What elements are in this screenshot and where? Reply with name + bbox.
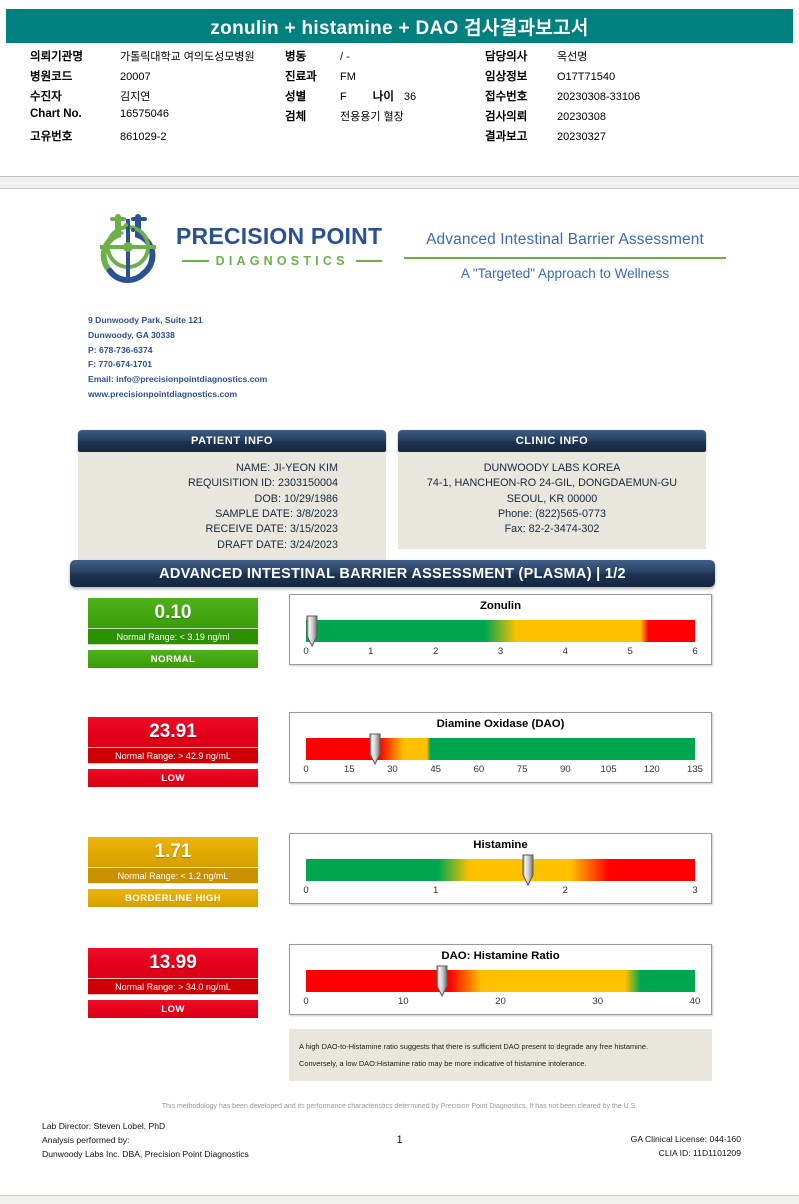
korean-info-value: FM: [340, 71, 356, 83]
patient-info-value: 3/24/2023: [290, 539, 338, 551]
result-normal-range: Normal Range: < 1.2 ng/mL: [88, 867, 258, 884]
gauge-tick-label: 0: [303, 646, 308, 657]
korean-info-value: 김지연: [120, 88, 150, 104]
korean-info-row: 담당의사옥선명: [485, 48, 785, 68]
korean-info-label: 임상정보: [485, 68, 557, 84]
report-sheet: PRECISION POINT DIAGNOSTICS Advanced Int…: [0, 189, 799, 1204]
patient-info-value: 3/15/2023: [290, 523, 338, 535]
tagline-block: Advanced Intestinal Barrier Assessment A…: [400, 231, 730, 281]
section-header-bar: ADVANCED INTESTINAL BARRIER ASSESSMENT (…: [70, 560, 715, 587]
gauge-tick-labels: 0123456: [306, 646, 695, 660]
korean-info-row: 진료과FM: [285, 68, 480, 88]
clinic-info-line: Phone: (822)565-0773: [412, 507, 692, 522]
gauge-title: Zonulin: [290, 600, 711, 614]
gauge-tick-label: 0: [303, 996, 308, 1007]
brand-logo-block: PRECISION POINT DIAGNOSTICS: [88, 205, 398, 285]
gauge-value-marker: [306, 615, 319, 647]
korean-info-value: 16575046: [120, 108, 169, 120]
gauge-tick-label: 3: [498, 646, 503, 657]
brand-subname-row: DIAGNOSTICS: [176, 254, 382, 268]
korean-info-value: F: [340, 91, 347, 103]
result-value-box: 0.10Normal Range: < 3.19 ng/mlNORMAL: [88, 598, 258, 668]
gauge-track: [306, 616, 695, 642]
korean-info-sub-label: 나이: [373, 88, 394, 104]
korean-info-row: 병동/ -: [285, 48, 480, 68]
korean-info-label: 접수번호: [485, 88, 557, 104]
gauge-tick-label: 90: [560, 764, 571, 775]
gauge-color-bar: [306, 970, 695, 992]
contact-line: Email: info@precisionpointdiagnostics.co…: [88, 372, 267, 387]
korean-info-value: 20230308: [557, 111, 606, 123]
footer-right-block: GA Clinical License: 044-160 CLIA ID: 11…: [631, 1133, 741, 1161]
company-name: Dunwoody Labs Inc. DBA, Precision Point …: [42, 1148, 249, 1162]
gauge-chart: Diamine Oxidase (DAO)0153045607590105120…: [289, 712, 712, 783]
gauge-title: Histamine: [290, 839, 711, 853]
gauge-tick-label: 105: [601, 764, 617, 775]
korean-info-value: 옥선명: [557, 48, 587, 64]
korean-info-value: / -: [340, 51, 350, 63]
clinic-info-line: SEOUL, KR 00000: [412, 492, 692, 507]
korean-info-row: Chart No.16575046: [30, 108, 290, 128]
gauge-tick-label: 20: [495, 996, 506, 1007]
korean-info-value: 가톨릭대학교 여의도성모병원: [120, 48, 255, 64]
patient-info-key: REQUISITION ID:: [188, 477, 278, 489]
brand-subname: DIAGNOSTICS: [216, 254, 349, 268]
gauge-title: Diamine Oxidase (DAO): [290, 718, 711, 732]
patient-info-row: NAME: JI-YEON KIM: [92, 461, 372, 476]
gauge-tick-label: 0: [303, 885, 308, 896]
gauge-tick-label: 3: [692, 885, 697, 896]
korean-info-row: 성별F나이36: [285, 88, 480, 108]
clinic-info-line: Fax: 82-2-3474-302: [412, 522, 692, 537]
report-title: zonulin + histamine + DAO 검사결과보고서: [210, 13, 588, 40]
page-footer: Lab Director: Steven Lobel, PhD Analysis…: [0, 1120, 799, 1162]
gauge-chart: Histamine0123: [289, 833, 712, 904]
ga-clinical-license: GA Clinical License: 044-160: [631, 1133, 741, 1147]
clinic-info-line: DUNWOODY LABS KOREA: [412, 461, 692, 476]
korean-info-sub-value: 36: [404, 91, 416, 103]
korean-info-value: 전용용기 혈장: [340, 108, 404, 124]
gauge-chart: Zonulin0123456: [289, 594, 712, 665]
korean-info-label: 검사의뢰: [485, 108, 557, 124]
contact-line: www.precisionpointdiagnostics.com: [88, 387, 267, 402]
gauge-tick-label: 2: [433, 646, 438, 657]
gauge-tick-label: 30: [387, 764, 398, 775]
ratio-note-line-2: Conversely, a low DAO:Histamine ratio ma…: [299, 1055, 702, 1072]
gauge-tick-labels: 0153045607590105120135: [306, 764, 695, 778]
gauge-value-marker: [521, 854, 534, 886]
gauge-tick-label: 75: [517, 764, 528, 775]
patient-info-value: JI-YEON KIM: [273, 462, 338, 474]
gauge-track: [306, 734, 695, 760]
contact-line: Dunwoody, GA 30338: [88, 328, 267, 343]
patient-info-key: NAME:: [236, 462, 273, 474]
result-status-badge: LOW: [88, 1000, 258, 1018]
korean-info-label: 결과보고: [485, 128, 557, 144]
gauge-color-bar: [306, 738, 695, 760]
clinic-info-line: 74-1, HANCHEON-RO 24-GIL, DONGDAEMUN-GU: [412, 476, 692, 491]
result-normal-range: Normal Range: > 42.9 ng/mL: [88, 747, 258, 764]
gauge-tick-labels: 0123: [306, 885, 695, 899]
clinic-info-heading: CLINIC INFO: [398, 430, 706, 452]
korean-info-value: O17T71540: [557, 71, 615, 83]
patient-info-row: DOB: 10/29/1986: [92, 492, 372, 507]
korean-info-row: 결과보고20230327: [485, 128, 785, 148]
precision-point-logo-icon: [88, 205, 168, 285]
wellness-tagline: A "Targeted" Approach to Wellness: [400, 266, 730, 281]
korean-info-label: 고유번호: [30, 128, 120, 144]
tagline-divider: [404, 257, 726, 259]
patient-info-key: SAMPLE DATE:: [215, 508, 296, 520]
korean-info-label: 병원코드: [30, 68, 120, 84]
gauge-tick-label: 30: [592, 996, 603, 1007]
gauge-color-bar: [306, 859, 695, 881]
patient-info-row: REQUISITION ID: 2303150004: [92, 476, 372, 491]
result-value: 0.10: [88, 598, 258, 628]
page-bottom-fill: [0, 1196, 799, 1204]
gauge-color-bar: [306, 620, 695, 642]
korean-info-row: 병원코드20007: [30, 68, 290, 88]
gauge-chart: DAO: Histamine Ratio010203040: [289, 944, 712, 1015]
ratio-note-box: A high DAO-to-Histamine ratio suggests t…: [289, 1029, 712, 1081]
brand-rule-left: [182, 260, 209, 262]
result-value: 1.71: [88, 837, 258, 867]
korean-info-row: 접수번호20230308-33106: [485, 88, 785, 108]
contact-line: 9 Dunwoody Park, Suite 121: [88, 313, 267, 328]
gauge-tick-label: 10: [398, 996, 409, 1007]
gauge-tick-label: 1: [368, 646, 373, 657]
korean-info-value: 20230327: [557, 131, 606, 143]
gauge-track: [306, 855, 695, 881]
korean-info-row: 고유번호861029-2: [30, 128, 290, 148]
clia-id: CLIA ID: 11D1101209: [631, 1147, 741, 1161]
ratio-note-line-1: A high DAO-to-Histamine ratio suggests t…: [299, 1038, 702, 1055]
gauge-tick-label: 6: [692, 646, 697, 657]
gauge-tick-label: 15: [344, 764, 355, 775]
gauge-tick-label: 2: [563, 885, 568, 896]
korean-header-column-a: 의뢰기관명가톨릭대학교 여의도성모병원병원코드20007수진자김지연Chart …: [30, 48, 290, 148]
korean-info-label: 성별: [285, 88, 340, 104]
result-normal-range: Normal Range: > 34.0 ng/mL: [88, 978, 258, 995]
korean-info-label: 진료과: [285, 68, 340, 84]
gauge-title: DAO: Histamine Ratio: [290, 950, 711, 964]
patient-info-heading: PATIENT INFO: [78, 430, 386, 452]
gauge-value-marker: [368, 733, 381, 765]
gauge-tick-label: 45: [430, 764, 441, 775]
patient-info-body: NAME: JI-YEON KIMREQUISITION ID: 2303150…: [78, 452, 386, 564]
gauge-tick-label: 135: [687, 764, 703, 775]
korean-info-label: 의뢰기관명: [30, 48, 120, 64]
patient-info-value: 2303150004: [278, 477, 338, 489]
korean-header: zonulin + histamine + DAO 검사결과보고서 의뢰기관명가…: [0, 0, 799, 177]
gauge-tick-label: 120: [644, 764, 660, 775]
korean-info-row: 검체전용용기 혈장: [285, 108, 480, 128]
gauge-tick-labels: 010203040: [306, 996, 695, 1010]
patient-info-key: DOB:: [255, 493, 284, 505]
korean-info-label: 담당의사: [485, 48, 557, 64]
footer-disclaimer: This methodology has been developed and …: [0, 1103, 799, 1112]
gauge-tick-label: 40: [690, 996, 701, 1007]
korean-info-row: 검사의뢰20230308: [485, 108, 785, 128]
brand-wordmark: PRECISION POINT DIAGNOSTICS: [176, 225, 382, 268]
gauge-tick-label: 0: [303, 764, 308, 775]
clinic-info-panel: CLINIC INFO DUNWOODY LABS KOREA74-1, HAN…: [398, 430, 706, 549]
header-gap: [0, 177, 799, 188]
korean-info-row: 수진자김지연: [30, 88, 290, 108]
patient-info-value: 10/29/1986: [284, 493, 338, 505]
korean-header-column-c: 담당의사옥선명임상정보O17T71540접수번호20230308-33106검사…: [485, 48, 785, 148]
gauge-tick-label: 60: [474, 764, 485, 775]
contact-line: P: 678-736-6374: [88, 343, 267, 358]
gauge-value-marker: [436, 965, 449, 997]
result-status-badge: NORMAL: [88, 650, 258, 668]
result-value: 23.91: [88, 717, 258, 747]
result-normal-range: Normal Range: < 3.19 ng/ml: [88, 628, 258, 645]
korean-info-row: 임상정보O17T71540: [485, 68, 785, 88]
result-status-badge: LOW: [88, 769, 258, 787]
korean-info-label: 병동: [285, 48, 340, 64]
brand-name: PRECISION POINT: [176, 225, 382, 248]
lab-director: Lab Director: Steven Lobel, PhD: [42, 1120, 249, 1134]
brand-rule-right: [356, 260, 383, 262]
gauge-tick-label: 5: [627, 646, 632, 657]
korean-info-label: 검체: [285, 108, 340, 124]
result-value-box: 1.71Normal Range: < 1.2 ng/mLBORDERLINE …: [88, 837, 258, 907]
result-status-badge: BORDERLINE HIGH: [88, 889, 258, 907]
korean-header-column-b: 병동/ -진료과FM성별F나이36검체전용용기 혈장: [285, 48, 480, 128]
clinic-info-body: DUNWOODY LABS KOREA74-1, HANCHEON-RO 24-…: [398, 452, 706, 549]
gauge-track: [306, 966, 695, 992]
patient-info-row: SAMPLE DATE: 3/8/2023: [92, 507, 372, 522]
korean-info-value: 20230308-33106: [557, 91, 640, 103]
contact-line: F: 770-674-1701: [88, 357, 267, 372]
patient-info-panel: PATIENT INFO NAME: JI-YEON KIMREQUISITIO…: [78, 430, 386, 564]
patient-info-key: DRAFT DATE:: [217, 539, 290, 551]
assessment-tagline: Advanced Intestinal Barrier Assessment: [400, 231, 730, 249]
gauge-tick-label: 1: [433, 885, 438, 896]
korean-info-row: 의뢰기관명가톨릭대학교 여의도성모병원: [30, 48, 290, 68]
result-value-box: 23.91Normal Range: > 42.9 ng/mLLOW: [88, 717, 258, 787]
result-value-box: 13.99Normal Range: > 34.0 ng/mLLOW: [88, 948, 258, 1018]
korean-info-value: 861029-2: [120, 131, 167, 143]
korean-info-label: Chart No.: [30, 108, 120, 120]
patient-info-row: DRAFT DATE: 3/24/2023: [92, 538, 372, 553]
patient-info-key: RECEIVE DATE:: [206, 523, 290, 535]
result-value: 13.99: [88, 948, 258, 978]
patient-info-value: 3/8/2023: [296, 508, 338, 520]
report-title-bar: zonulin + histamine + DAO 검사결과보고서: [6, 9, 793, 43]
korean-info-label: 수진자: [30, 88, 120, 104]
patient-info-row: RECEIVE DATE: 3/15/2023: [92, 522, 372, 537]
gauge-tick-label: 4: [563, 646, 568, 657]
lab-contact-info: 9 Dunwoody Park, Suite 121Dunwoody, GA 3…: [88, 313, 267, 402]
korean-info-value: 20007: [120, 71, 151, 83]
